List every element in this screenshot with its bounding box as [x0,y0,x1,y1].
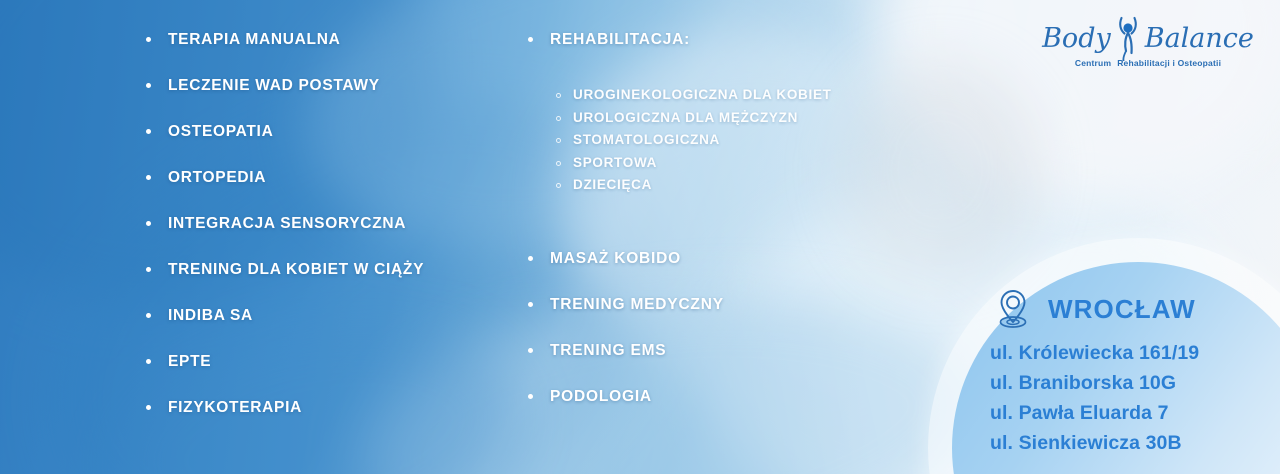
list-item-rehabilitacja[interactable]: REHABILITACJA: [528,30,908,76]
service-label: UROGINEKOLOGICZNA DLA KOBIET [573,84,832,107]
list-item[interactable]: ORTOPEDIA [146,168,506,214]
hollow-bullet-icon [556,183,561,188]
bullet-icon [146,83,151,88]
service-label: INDIBA SA [168,306,253,326]
person-raised-arms-icon [1113,15,1143,61]
list-item[interactable]: UROLOGICZNA DLA MĘŻCZYZN [556,107,908,130]
list-item[interactable]: MASAŻ KOBIDO [528,249,908,295]
service-label: REHABILITACJA: [550,30,690,50]
services-column-1: TERAPIA MANUALNA LECZENIE WAD POSTAWY OS… [146,30,506,444]
service-label: OSTEOPATIA [168,122,273,142]
address-line[interactable]: ul. Braniborska 10G [990,368,1250,398]
logo-tagline-right: Rehabilitacji i Osteopatii [1117,58,1221,68]
location-card-content: WROCŁAW ul. Królewiecka 161/19 ul. Brani… [990,286,1250,458]
bullet-icon [146,37,151,42]
logo-tagline-left: Centrum [1075,58,1111,68]
list-item[interactable]: SPORTOWA [556,152,908,175]
bullet-icon [146,221,151,226]
city-name: WROCŁAW [1048,296,1196,322]
list-item[interactable]: LECZENIE WAD POSTAWY [146,76,506,122]
service-label: TRENING MEDYCZNY [550,295,724,315]
service-label: INTEGRACJA SENSORYCZNA [168,214,406,234]
list-item[interactable]: INTEGRACJA SENSORYCZNA [146,214,506,260]
brand-logo[interactable]: Body Balance Centrum Rehabilitacji i Ost… [1068,14,1228,86]
service-label: UROLOGICZNA DLA MĘŻCZYZN [573,107,798,130]
logo-word-body: Body [1042,25,1111,52]
bullet-icon [146,313,151,318]
location-header: WROCŁAW [990,286,1250,332]
bullet-icon [146,129,151,134]
address-line[interactable]: ul. Pawła Eluarda 7 [990,398,1250,428]
bullet-icon [146,267,151,272]
services-column-2: REHABILITACJA: UROGINEKOLOGICZNA DLA KOB… [528,30,908,433]
address-line[interactable]: ul. Królewiecka 161/19 [990,338,1250,368]
map-pin-icon [990,286,1036,332]
service-label: SPORTOWA [573,152,657,175]
list-item[interactable]: STOMATOLOGICZNA [556,129,908,152]
list-item[interactable]: OSTEOPATIA [146,122,506,168]
bullet-icon [528,348,533,353]
service-label: TRENING DLA KOBIET W CIĄŻY [168,260,424,280]
bullet-icon [528,394,533,399]
service-label: DZIECIĘCA [573,174,652,197]
list-item[interactable]: TRENING DLA KOBIET W CIĄŻY [146,260,506,306]
service-label: TRENING EMS [550,341,666,361]
list-item[interactable]: DZIECIĘCA [556,174,908,197]
address-line[interactable]: ul. Sienkiewicza 30B [990,428,1250,458]
bullet-icon [146,359,151,364]
service-label: STOMATOLOGICZNA [573,129,720,152]
list-item[interactable]: EPTE [146,352,506,398]
banner-content: TERAPIA MANUALNA LECZENIE WAD POSTAWY OS… [0,0,1280,474]
hollow-bullet-icon [556,93,561,98]
bullet-icon [528,256,533,261]
service-label: MASAŻ KOBIDO [550,249,681,269]
bullet-icon [528,37,533,42]
bullet-icon [146,175,151,180]
bullet-icon [528,302,533,307]
services-list-1: TERAPIA MANUALNA LECZENIE WAD POSTAWY OS… [146,30,506,444]
list-item[interactable]: TRENING EMS [528,341,908,387]
service-label: FIZYKOTERAPIA [168,398,302,418]
logo-wordmark: Body Balance [1068,14,1228,62]
service-label: EPTE [168,352,211,372]
hollow-bullet-icon [556,116,561,121]
list-item[interactable]: TRENING MEDYCZNY [528,295,908,341]
hollow-bullet-icon [556,138,561,143]
bullet-icon [146,405,151,410]
service-label: LECZENIE WAD POSTAWY [168,76,380,96]
list-item[interactable]: INDIBA SA [146,306,506,352]
rehabilitacja-sublist: UROGINEKOLOGICZNA DLA KOBIET UROLOGICZNA… [556,84,908,197]
services-list-2: REHABILITACJA: UROGINEKOLOGICZNA DLA KOB… [528,30,908,433]
hollow-bullet-icon [556,161,561,166]
service-label: ORTOPEDIA [168,168,266,188]
list-item[interactable]: UROGINEKOLOGICZNA DLA KOBIET [556,84,908,107]
logo-word-balance: Balance [1145,25,1254,52]
list-item[interactable]: FIZYKOTERAPIA [146,398,506,444]
logo-tagline: Centrum Rehabilitacji i Osteopatii [1068,58,1228,68]
list-item[interactable]: PODOLOGIA [528,387,908,433]
list-item[interactable]: TERAPIA MANUALNA [146,30,506,76]
spacer [528,197,908,249]
service-label: PODOLOGIA [550,387,652,407]
service-label: TERAPIA MANUALNA [168,30,341,50]
